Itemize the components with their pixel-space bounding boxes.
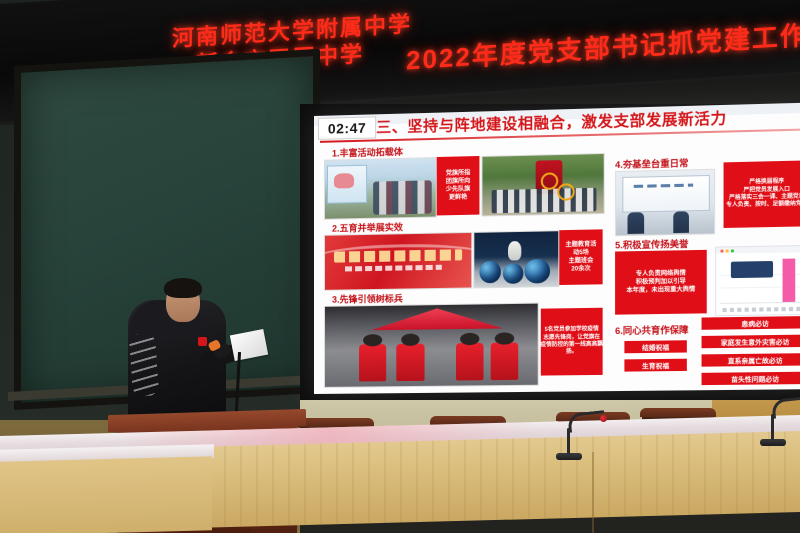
photo-globes — [473, 230, 559, 288]
visit-item-0: 患病必访 — [700, 315, 800, 331]
desk-left-panel — [0, 456, 212, 533]
blessing-item-1: 生育祝福 — [623, 358, 688, 373]
callout-theme-education: 主题教育活 动5场 主题班会 20余次 — [559, 229, 602, 285]
visit-item-2: 直系亲属亡故必访 — [700, 352, 800, 368]
photo-group — [481, 153, 604, 217]
led-banner-line3: 2022年度党支部书记抓党建工作述职评议会 — [406, 6, 800, 77]
mini-chart-bar — [783, 259, 796, 302]
mini-chart-tooltip — [731, 261, 773, 278]
desk-panel-seam — [592, 452, 594, 533]
desk-microphone — [556, 408, 616, 460]
callout-public-opinion: 专人负责网络舆情 积极预判加以引导 本年度，未出现重大舆情 — [615, 250, 707, 315]
callout-discipline-line4: 专人负责、按时、足额缴纳党费 — [726, 201, 800, 210]
presentation-timer: 02:47 — [318, 116, 376, 140]
photo-volunteers — [324, 303, 539, 388]
photo-meeting — [615, 169, 715, 237]
mini-chart-axis — [720, 302, 800, 304]
party-badge — [198, 337, 207, 346]
visit-item-3: 苗头性问题必访 — [700, 371, 800, 387]
lecture-hall-photo: 河南师范大学附属中学 新乡市平原中学 2022年度党支部书记抓党建工作述职评议会… — [0, 0, 800, 533]
photo-corridor — [324, 157, 437, 220]
section-label-5: 5.积极宣传扬美誉 — [615, 237, 688, 252]
projection-screen: 02:47 三、坚持与阵地建设相融合，激发支部发展新活力 1.丰富活动拓载体 党… — [314, 102, 800, 394]
callout-party-discipline: 严格换届程序 严把党员发展入口 严格落实三会一课、主题党日 专人负责、按时、足额… — [724, 160, 800, 228]
callout-theme-line1: 主题教育活 — [565, 240, 596, 249]
mini-chart-screenshot — [715, 245, 800, 317]
jacket-stripes — [129, 333, 159, 397]
callout-opinion-line3: 本年度，未出现重大舆情 — [626, 286, 695, 295]
callout-vanguard: 5名党员参加学校疫情 志愿先锋岗，让党旗在 疫情防控的第一线高高飘 扬。 — [541, 308, 603, 376]
callout-flag: 党旗所指 团旗所向 少先队旗 更鲜艳 — [437, 156, 480, 215]
callout-flag-line4: 更鲜艳 — [449, 194, 467, 203]
callout-theme-line4: 20余次 — [571, 265, 590, 274]
section-label-3: 3.先锋引领树标兵 — [332, 292, 403, 306]
presentation-slide: 02:47 三、坚持与阵地建设相融合，激发支部发展新活力 1.丰富活动拓载体 党… — [314, 102, 800, 394]
section-label-6: 6.同心共育作保障 — [615, 323, 688, 337]
callout-theme-line2: 动5场 — [573, 249, 589, 258]
photo-red-banner — [324, 232, 472, 291]
visit-item-1: 家庭发生意外灾害必访 — [700, 334, 800, 350]
speaker-hair — [164, 278, 202, 298]
callout-vanguard-line4: 扬。 — [566, 349, 577, 357]
blessing-item-0: 结婚祝福 — [623, 339, 688, 354]
desk-microphone — [760, 394, 800, 446]
